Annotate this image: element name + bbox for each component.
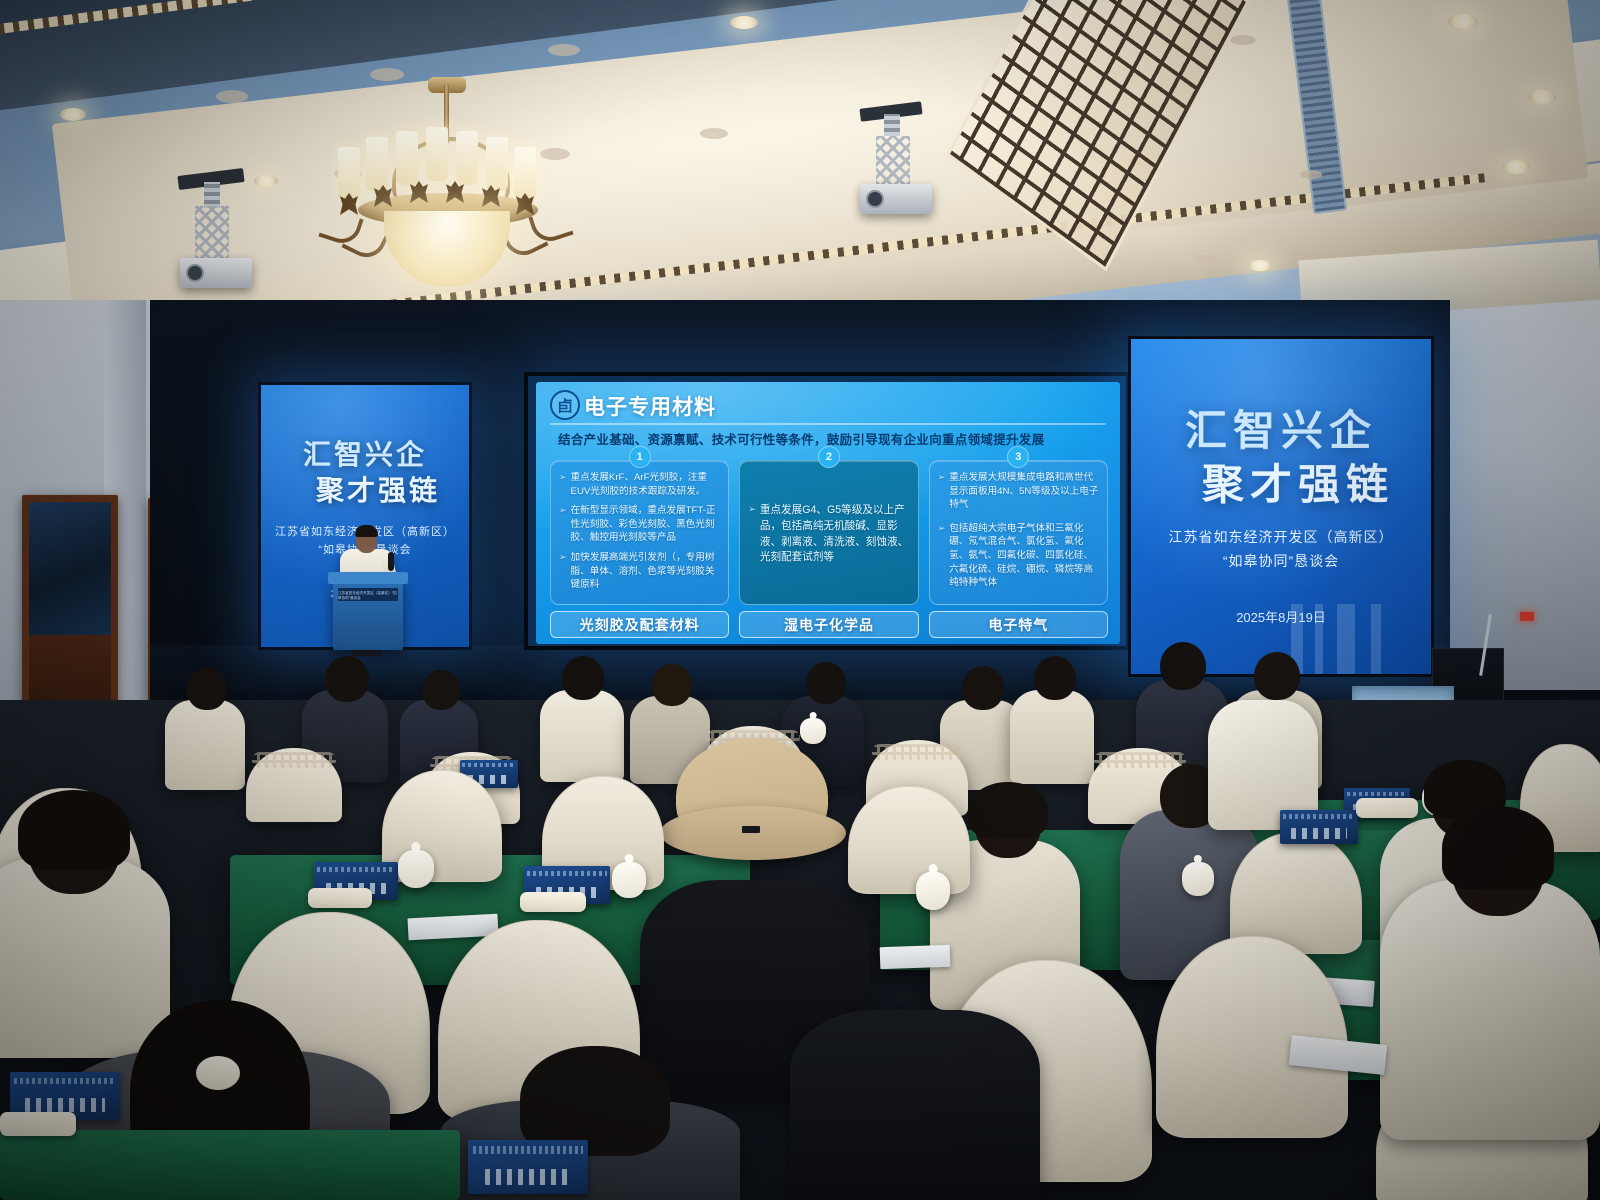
ceiling-vent (548, 44, 580, 56)
chair-lace-trim (252, 752, 337, 768)
bullet-text: 加快发展高端光引发剂（，专用树脂、单体、溶剂、色浆等光刻胶关键原料 (571, 551, 721, 592)
column-tag: 湿电子化学品 (739, 611, 918, 638)
podium-top (328, 572, 408, 584)
attendee-body (1010, 690, 1094, 784)
downlight-icon (1448, 14, 1478, 29)
teacup (800, 718, 826, 744)
slide-column-1: 1 ➢ 重点发展KrF、ArF光刻胶，注重EUV光刻胶的技术跟踪及研发。 ➢ 在… (550, 460, 729, 638)
ceiling-vent (1195, 255, 1219, 264)
exit-sign-icon (1520, 612, 1534, 621)
presentation-slide: 卣 电子专用材料 结合产业基础、资源禀赋、技术可行性等条件，鼓励引导现有企业向重… (536, 382, 1120, 644)
chair-lace-trim (1094, 752, 1186, 768)
door-glass-panel (29, 502, 111, 640)
downlight-icon (60, 108, 86, 121)
downlight-icon (1248, 260, 1272, 271)
bullet-item: ➢ 重点发展KrF、ArF光刻胶，注重EUV光刻胶的技术跟踪及研发。 (559, 471, 720, 498)
bullet-marker-icon: ➢ (938, 471, 946, 512)
attendee-head (962, 666, 1004, 710)
bullet-text: 在新型显示领域，重点发展TFT-正性光刻胶、彩色光刻胶、黑色光刻胶、触控用光刻胶… (571, 504, 721, 545)
screen-right-subtitle-line1: 江苏省如东经济开发区（高新区） (1131, 527, 1431, 547)
column-tag: 电子特气 (929, 611, 1108, 638)
projector-lens-icon (186, 264, 204, 282)
chandelier-lamp (426, 127, 448, 181)
teapot (398, 850, 434, 888)
teacup (1182, 862, 1214, 896)
slide-logo-icon: 卣 (550, 390, 580, 420)
slide-column-3: 3 ➢ 重点发展大规模集成电路和高世代显示面板用4N、5N等级及以上电子特气 ➢… (929, 460, 1108, 638)
ceiling-vent (216, 90, 248, 103)
name-card-name-text (25, 1098, 104, 1112)
name-card-name-text (485, 1169, 571, 1185)
bullet-item: ➢ 加快发展高端光引发剂（，专用树脂、单体、溶剂、色浆等光刻胶关键原料 (559, 551, 720, 592)
attendee-head (187, 668, 227, 710)
screen-right-title-line2: 聚才强链 (1131, 451, 1431, 512)
ceiling-vent (1300, 170, 1322, 179)
column-number-badge: 1 (629, 446, 651, 468)
bullet-text: 重点发展G4、G5等级及以上产品，包括高纯无机酸碱、显影液、剥离液、清洗液、刻蚀… (760, 503, 910, 567)
attendee-body (540, 690, 624, 782)
chandelier-lamp (514, 147, 536, 201)
bullet-item: ➢ 在新型显示领域，重点发展TFT-正性光刻胶、彩色光刻胶、黑色光刻胶、触控用光… (559, 504, 720, 545)
podium-banner: 江苏省如东经济开发区（高新区）“如皋协同”恳谈会 (338, 588, 398, 601)
hat-brim (660, 806, 846, 860)
bullet-marker-icon: ➢ (938, 522, 946, 590)
name-card-header-text (14, 1078, 115, 1085)
bullet-text: 包括超纯大宗电子气体和三氟化硼、氖气混合气、氯化氢、氟化氢、氨气、四氟化碳、四氯… (949, 522, 1099, 590)
bullet-item: ➢ 重点发展G4、G5等级及以上产品，包括高纯无机酸碱、显影液、剥离液、清洗液、… (748, 503, 909, 567)
teapot (916, 872, 950, 910)
attendee-head (806, 662, 846, 704)
chandelier-lamp (456, 131, 478, 185)
hair-tie (196, 1056, 240, 1090)
bullet-text: 重点发展大规模集成电路和高世代显示面板用4N、5N等级及以上电子特气 (949, 471, 1099, 512)
attendee-head (1034, 656, 1076, 700)
conference-hall-photo: 汇智兴企 聚才强链 江苏省如东经济开发区（高新区） “如皋协同”恳谈会 2025… (0, 0, 1600, 1200)
chandelier-lamp (486, 137, 508, 191)
column-tag: 光刻胶及配套材料 (550, 611, 729, 638)
projector-scissor-lift (876, 136, 910, 184)
screen-right-date: 2025年8月19日 (1131, 607, 1431, 626)
bullet-text: 重点发展KrF、ArF光刻胶，注重EUV光刻胶的技术跟踪及研发。 (571, 471, 721, 498)
attendee-body (790, 1010, 1040, 1200)
attendee-head (422, 670, 460, 710)
table-name-card (1280, 810, 1358, 844)
column-number-badge: 3 (1007, 446, 1029, 468)
name-card-header-text (1347, 792, 1408, 796)
bullet-marker-icon: ➢ (748, 503, 756, 567)
chandelier-lamp (338, 147, 360, 201)
door-left[interactable] (22, 495, 118, 724)
name-card-header-text (1283, 814, 1355, 819)
screen-right: 汇智兴企 聚才强链 江苏省如东经济开发区（高新区） “如皋协同”恳谈会 2025… (1128, 336, 1434, 677)
slide-columns: 1 ➢ 重点发展KrF、ArF光刻胶，注重EUV光刻胶的技术跟踪及研发。 ➢ 在… (550, 460, 1108, 638)
screen-left-title-line1: 汇智兴企 (261, 433, 469, 473)
ceiling-vent (1230, 35, 1256, 45)
attendee-head (1254, 652, 1300, 700)
projector-lens-icon (866, 190, 884, 208)
ceiling-vent (700, 128, 728, 139)
column-body: ➢ 重点发展大规模集成电路和高世代显示面板用4N、5N等级及以上电子特气 ➢ 包… (929, 460, 1108, 605)
chandelier-lamp (396, 131, 418, 185)
downlight-icon (1528, 90, 1556, 104)
attendee-hair (968, 782, 1048, 838)
chair-lace-trim (872, 744, 962, 760)
attendee-head (562, 656, 604, 700)
folded-napkin (1356, 798, 1418, 818)
document-papers (880, 945, 951, 969)
attendee-head (325, 656, 369, 702)
chandelier-lamp (366, 137, 388, 191)
attendee-body (165, 700, 245, 790)
speaker-hair (355, 525, 378, 537)
name-card-header-text (317, 867, 394, 872)
screen-main: 卣 电子专用材料 结合产业基础、资源禀赋、技术可行性等条件，鼓励引导现有企业向重… (524, 372, 1130, 650)
projector-scissor-lift (195, 206, 229, 258)
folded-napkin (520, 892, 586, 912)
table-name-card (468, 1140, 588, 1194)
attendee-hair (1442, 806, 1554, 890)
projector-pole (884, 114, 900, 136)
screen-right-title-line1: 汇智兴企 (1131, 397, 1431, 458)
name-card-header-text (527, 871, 606, 876)
column-body: ➢ 重点发展G4、G5等级及以上产品，包括高纯无机酸碱、显影液、剥离液、清洗液、… (739, 460, 918, 605)
screen-right-subtitle-line2: “如皋协同”恳谈会 (1131, 551, 1431, 571)
chair (246, 748, 342, 822)
name-card-name-text (1291, 828, 1347, 838)
attendee-head (1160, 642, 1206, 690)
slide-column-2: 2 ➢ 重点发展G4、G5等级及以上产品，包括高纯无机酸碱、显影液、剥离液、清洗… (739, 460, 918, 638)
hat-label (742, 826, 760, 833)
projector-pole (204, 182, 220, 208)
attendee-body (1380, 880, 1600, 1140)
bullet-item: ➢ 重点发展大规模集成电路和高世代显示面板用4N、5N等级及以上电子特气 (938, 471, 1099, 512)
column-number-badge: 2 (818, 446, 840, 468)
chair (848, 786, 970, 894)
chandelier (300, 85, 590, 300)
downlight-icon (730, 16, 758, 29)
name-card-header-text (473, 1146, 583, 1154)
slide-title: 电子专用材料 (584, 391, 716, 421)
slide-title-rule (550, 423, 1106, 425)
folded-napkin (308, 888, 372, 908)
attendee-hair (18, 790, 130, 870)
name-card-header-text (462, 763, 515, 767)
attendee-head (652, 664, 692, 706)
teapot (612, 862, 646, 898)
screen-left-title-line2: 聚才强链 (261, 469, 469, 509)
chandelier-bowl (384, 211, 510, 287)
podium: 江苏省如东经济开发区（高新区）“如皋协同”恳谈会 (333, 578, 403, 650)
microphone-icon (388, 552, 394, 571)
conference-table (0, 1130, 460, 1200)
bullet-item: ➢ 包括超纯大宗电子气体和三氟化硼、氖气混合气、氯化氢、氟化氢、氨气、四氟化碳、… (938, 522, 1099, 590)
bullet-marker-icon: ➢ (559, 471, 567, 498)
column-body: ➢ 重点发展KrF、ArF光刻胶，注重EUV光刻胶的技术跟踪及研发。 ➢ 在新型… (550, 460, 729, 605)
bullet-marker-icon: ➢ (559, 551, 567, 592)
ceiling-vent (370, 68, 404, 81)
bullet-marker-icon: ➢ (559, 504, 567, 545)
downlight-icon (254, 175, 278, 187)
downlight-icon (1502, 160, 1530, 174)
folded-napkin (0, 1112, 76, 1136)
